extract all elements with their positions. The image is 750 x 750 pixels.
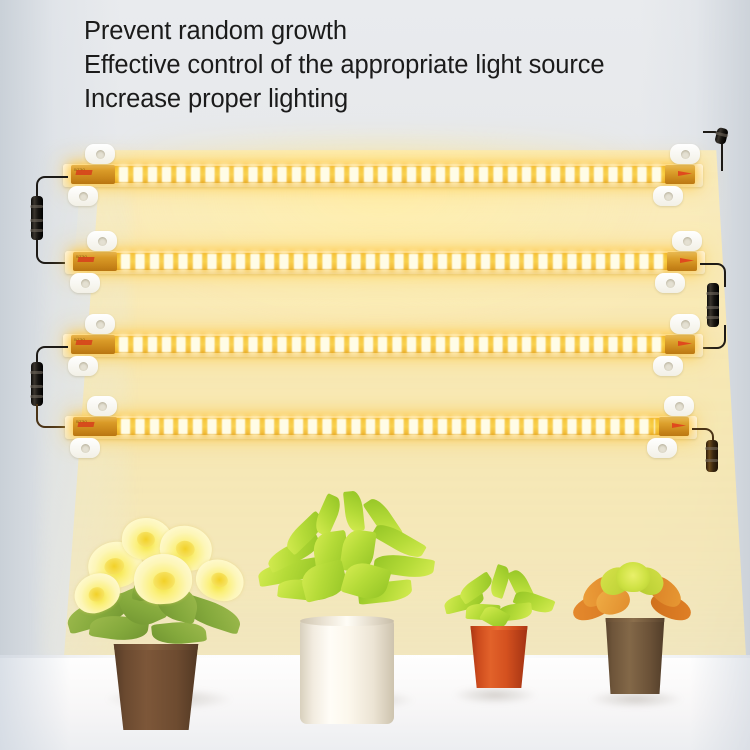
led-bar-4-driver-module: 5730 <box>73 417 117 436</box>
led-bar-3-mount-tab-top-left <box>85 314 115 334</box>
headline-block: Prevent random growth Effective control … <box>84 14 734 116</box>
led-bar-1-mount-tab-bottom-right <box>653 186 683 206</box>
flower-center <box>209 570 230 589</box>
led-bar-3-mount-tab-bottom-right <box>653 356 683 376</box>
led-bar-3-chip-row <box>119 337 661 352</box>
led-bar-3-right-driver <box>665 335 695 354</box>
led-bar-3-mount-tab-top-right <box>670 314 700 334</box>
led-bar-2-chip-row <box>121 254 663 269</box>
flower-center <box>174 539 196 559</box>
small-plant-leaf <box>488 564 512 599</box>
led-bar-3-driver-label: 5730 <box>74 338 85 343</box>
succulent-plant <box>566 556 706 702</box>
led-bar-3: 5730 <box>63 328 703 362</box>
bar1-bar2-link-cable <box>36 238 68 264</box>
product-photo-scene: Prevent random growth Effective control … <box>0 0 750 750</box>
white-ceramic-pot <box>300 620 394 724</box>
led-bar-4-chip-row <box>121 419 655 434</box>
flower-center <box>86 585 106 604</box>
left-barrel-connector-2 <box>31 362 43 406</box>
succulent-center <box>616 562 650 592</box>
flower-center <box>153 571 176 590</box>
led-bar-4-mount-tab-bottom-left <box>70 438 100 458</box>
led-bar-1-mount-tab-bottom-left <box>68 186 98 206</box>
led-bar-3-mount-tab-bottom-left <box>68 356 98 376</box>
pot-rim <box>300 616 394 626</box>
led-bar-1-right-driver <box>665 165 695 184</box>
connector-ring <box>30 385 43 388</box>
right-barrel-connector-1 <box>707 283 719 327</box>
bar3-bar4-link-cable <box>36 404 68 428</box>
bar2-bar3-link-cable <box>700 325 726 349</box>
led-bar-1-mount-tab-top-left <box>85 144 115 164</box>
led-bar-2-right-driver <box>667 252 697 271</box>
led-bar-2-mount-tab-top-left <box>87 231 117 251</box>
terracotta-pot <box>468 626 530 688</box>
led-bar-4-mount-tab-bottom-right <box>647 438 677 458</box>
led-bar-4-end-plug <box>706 440 718 472</box>
led-bar-4-mount-tab-top-left <box>87 396 117 416</box>
connector-ring <box>30 229 43 232</box>
led-bar-2-mount-tab-bottom-right <box>655 273 685 293</box>
connector-ring <box>30 205 43 208</box>
small-green-plant <box>440 570 560 698</box>
led-bar-4-mount-tab-top-right <box>664 396 694 416</box>
led-bar-2-driver-label: 5730 <box>76 255 87 260</box>
fern-plant <box>256 498 436 698</box>
connector-ring <box>705 459 718 462</box>
yellow-flower-plant <box>60 498 260 698</box>
led-bar-3-driver-module: 5730 <box>71 335 115 354</box>
connector-ring <box>706 292 719 295</box>
connector-ring <box>30 219 43 222</box>
led-bar-4-right-driver <box>659 417 689 436</box>
headline-line-3: Increase proper lighting <box>84 82 734 116</box>
connector-ring <box>706 316 719 319</box>
connector-ring <box>30 371 43 374</box>
led-bar-2-mount-tab-top-right <box>672 231 702 251</box>
brown-round-pot <box>108 644 204 730</box>
connector-ring <box>30 395 43 398</box>
square-brown-pot <box>600 618 670 694</box>
led-bar-2: 5730 <box>65 245 705 279</box>
led-bar-4-driver-label: 5730 <box>76 420 87 425</box>
led-bar-1: 5730 <box>63 158 703 192</box>
led-bar-4: 5730 <box>65 410 697 444</box>
led-bar-1-mount-tab-top-right <box>670 144 700 164</box>
connector-ring <box>705 447 718 450</box>
led-bar-1-driver-module: 5730 <box>71 165 115 184</box>
flower-center <box>136 531 155 548</box>
connector-ring <box>715 132 728 138</box>
led-bar-1-driver-label: 5730 <box>74 168 85 173</box>
left-barrel-connector-1 <box>31 196 43 240</box>
led-bar-2-mount-tab-bottom-left <box>70 273 100 293</box>
connector-ring <box>706 306 719 309</box>
led-bar-2-driver-module: 5730 <box>73 252 117 271</box>
led-bar-1-chip-row <box>119 167 661 182</box>
flower-leaf <box>151 619 207 647</box>
headline-line-1: Prevent random growth <box>84 14 734 48</box>
headline-line-2: Effective control of the appropriate lig… <box>84 48 734 82</box>
